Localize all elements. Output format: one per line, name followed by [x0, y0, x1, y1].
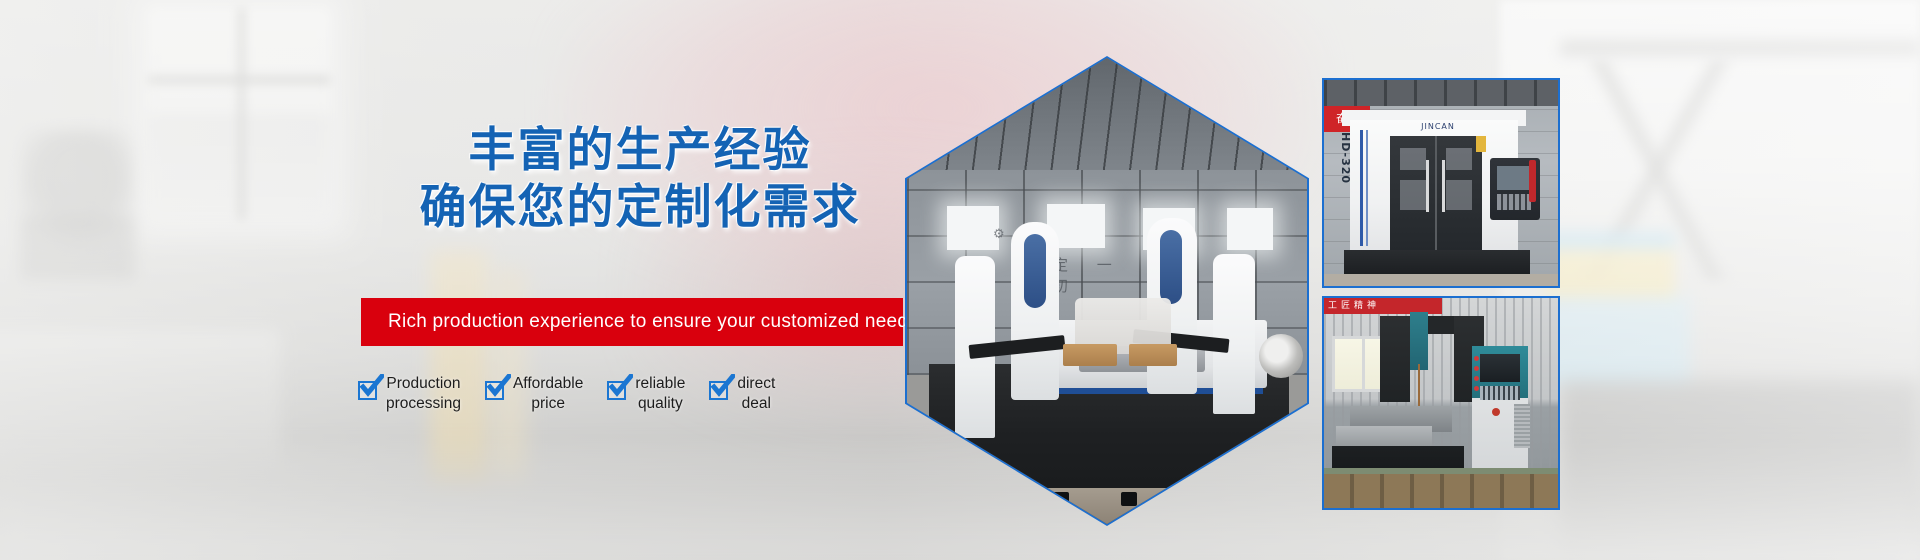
thumb-door-window — [1400, 180, 1426, 210]
thumb-brand-label: JINCAN — [1410, 122, 1466, 131]
checkbox-checked-icon[interactable] — [485, 381, 504, 400]
feature-label-line-1: Affordable — [513, 374, 583, 394]
checkbox-checked-icon[interactable] — [607, 381, 626, 400]
feature-label-line-2: processing — [386, 394, 461, 414]
checkbox-checked-icon[interactable] — [709, 381, 728, 400]
workshop-roof-ridge — [907, 58, 1307, 178]
thumb-ceiling-beam — [1324, 80, 1558, 106]
thumb-machine-stripe — [1360, 130, 1363, 246]
machine-control-panel — [1024, 234, 1046, 308]
checkbox-checked-icon[interactable] — [358, 381, 377, 400]
thumb-control-accent — [1529, 160, 1536, 202]
feature-label-line-2: quality — [635, 394, 685, 414]
machine-foot — [1121, 492, 1137, 506]
thumb-status-light — [1476, 136, 1486, 152]
feature-label-line-1: reliable — [635, 374, 685, 394]
feature-label: reliable quality — [635, 374, 685, 413]
thumb-door-split — [1435, 136, 1437, 252]
hero-image-hexagon[interactable]: ⚙ 定 一 初 — [905, 56, 1309, 526]
thumb2-pallet — [1324, 474, 1558, 508]
thumb2-cabinet-vent — [1514, 404, 1530, 448]
hero-banner: 丰富的生产经验 确保您的定制化需求 Rich production experi… — [0, 0, 1920, 560]
feature-label: Production processing — [386, 374, 461, 413]
headline-line-2: 确保您的定制化需求 — [360, 179, 920, 236]
subtitle-text: Rich production experience to ensure you… — [388, 311, 918, 333]
workshop-window — [1227, 208, 1273, 250]
feature-item-affordable-price[interactable]: Affordable price — [485, 374, 583, 413]
thumb2-gantry-column — [1380, 316, 1410, 402]
thumbnail-edm-machine[interactable]: 工匠精神 — [1322, 296, 1560, 510]
feature-item-production-processing[interactable]: Production processing — [358, 374, 461, 413]
feature-label-line-2: deal — [737, 394, 775, 414]
subtitle-banner: Rich production experience to ensure you… — [361, 298, 903, 346]
thumb-door-window — [1446, 180, 1472, 210]
machine-foot — [1189, 492, 1205, 506]
thumb-door-window — [1400, 148, 1426, 170]
machine-carton — [1129, 344, 1177, 366]
thumbnail-bottom-content: 工匠精神 — [1324, 298, 1558, 508]
thumb-door-handle — [1442, 160, 1445, 212]
workshop-logo-icon: ⚙ — [993, 226, 1009, 242]
feature-item-reliable-quality[interactable]: reliable quality — [607, 374, 685, 413]
machine-floor — [907, 488, 1307, 524]
feature-label: Affordable price — [513, 374, 583, 413]
hero-image-photo: ⚙ 定 一 初 — [907, 58, 1307, 524]
thumb-door-handle — [1426, 160, 1429, 212]
feature-label: direct deal — [737, 374, 775, 413]
feature-list: Production processing Affordable price r… — [358, 374, 878, 426]
feature-label-line-1: direct — [737, 374, 775, 394]
feature-label-line-1: Production — [386, 374, 461, 394]
thumb-model-label: HD-320 — [1339, 132, 1352, 184]
thumb2-cabinet-keypad — [1480, 386, 1520, 400]
thumbnail-top-content: 奋力 JINCAN HD-320 — [1324, 80, 1558, 286]
thumb2-cabinet-screen — [1480, 354, 1520, 382]
machine-carton — [1063, 344, 1117, 366]
thumb-control-keypad — [1497, 194, 1531, 210]
thumb-machine-stripe-secondary — [1366, 130, 1368, 246]
thumb2-machine-head — [1410, 312, 1428, 370]
workshop-window — [947, 206, 999, 250]
thumb-control-screen — [1497, 166, 1531, 190]
thumb-door-window — [1446, 148, 1472, 170]
headline-line-1: 丰富的生产经验 — [360, 122, 920, 179]
thumb2-emergency-stop-icon — [1492, 408, 1500, 416]
machine-buttons — [961, 451, 986, 460]
thumb2-window-mullion — [1362, 336, 1365, 392]
thumb-ground — [1324, 274, 1558, 286]
feature-item-direct-deal[interactable]: direct deal — [709, 374, 775, 413]
hero-image-content: ⚙ 定 一 初 — [907, 58, 1307, 524]
page-title: 丰富的生产经验 确保您的定制化需求 — [360, 122, 920, 237]
thumbnail-machining-center[interactable]: 奋力 JINCAN HD-320 — [1322, 78, 1560, 288]
machine-control-panel — [1160, 230, 1182, 304]
machine-column — [1213, 254, 1255, 414]
feature-label-line-2: price — [513, 394, 583, 414]
machine-coil — [1259, 334, 1303, 378]
thumb2-cabinet-buttons — [1474, 356, 1479, 391]
